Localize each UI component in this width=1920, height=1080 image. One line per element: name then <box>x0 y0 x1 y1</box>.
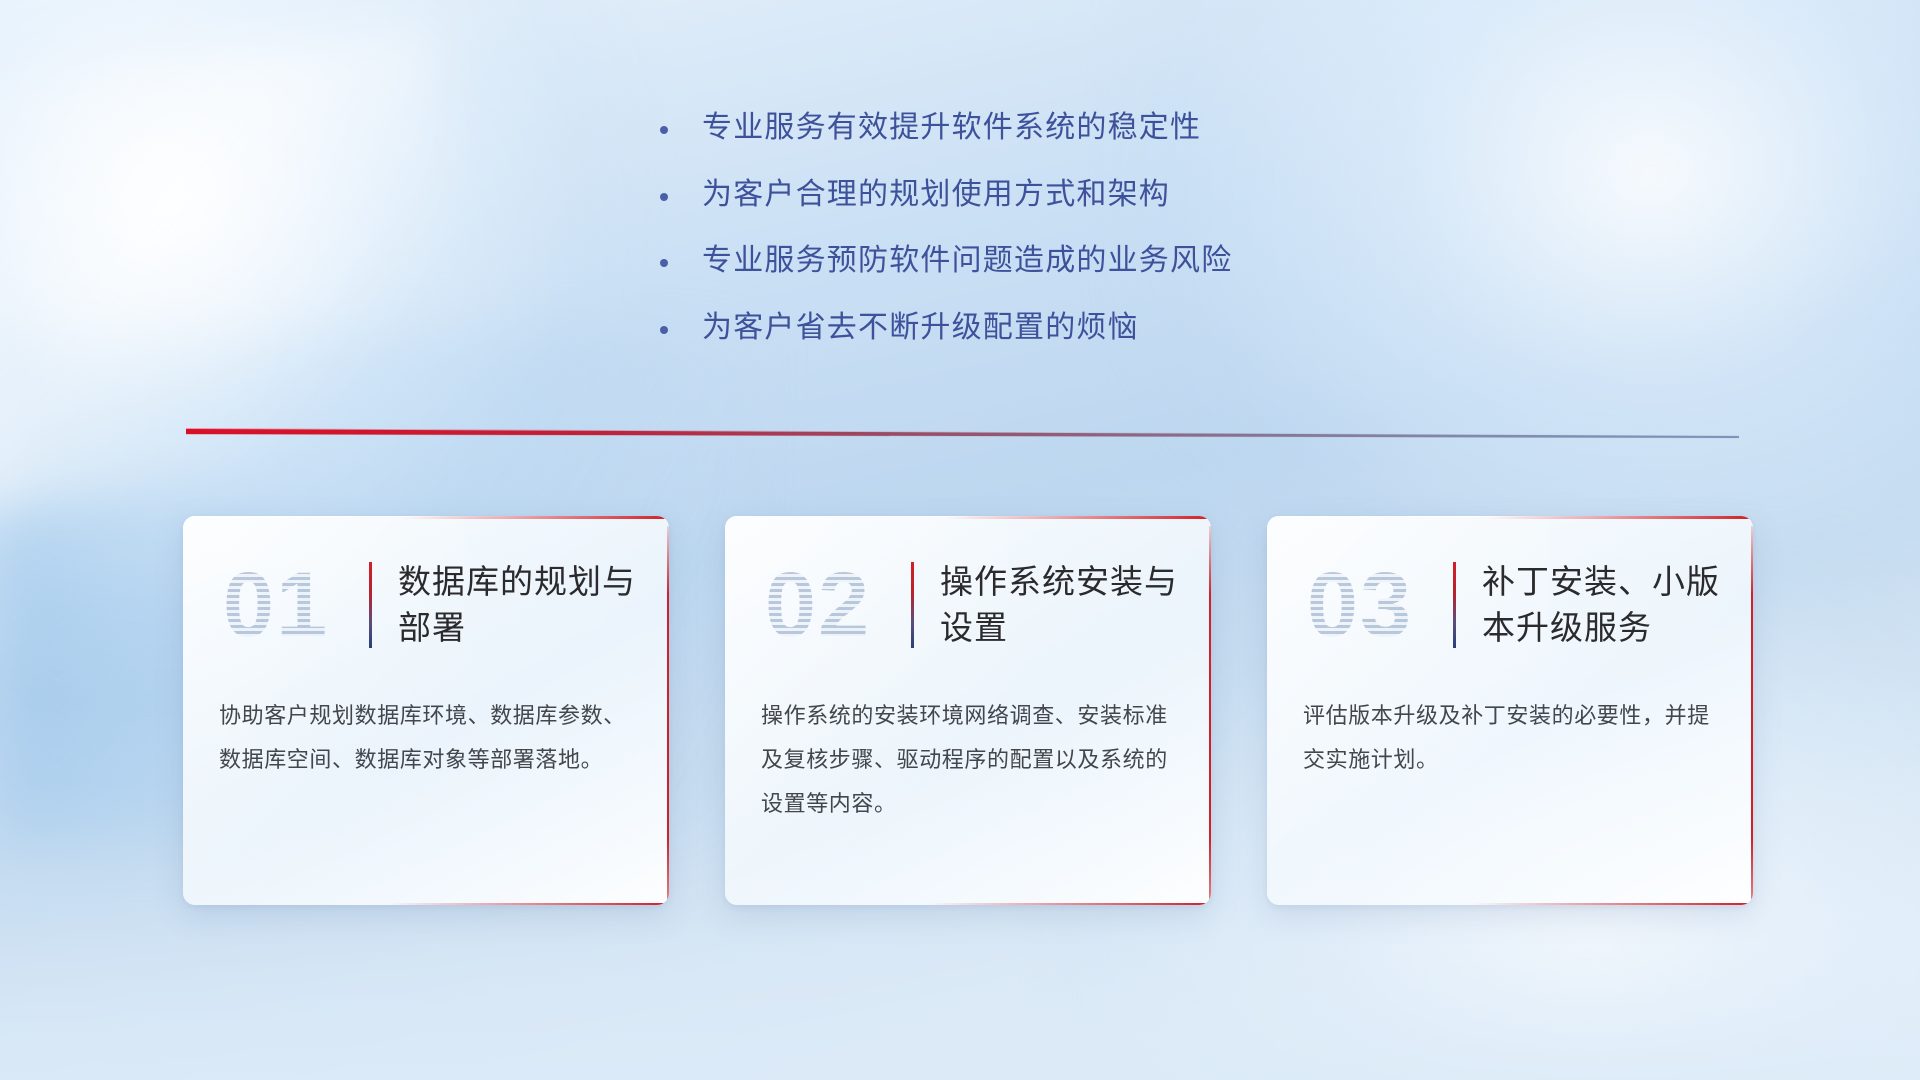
card-number: 01 <box>201 559 351 651</box>
bullet-label: 专业服务有效提升软件系统的稳定性 <box>702 108 1201 149</box>
card-header: 01 数据库的规划与部署 <box>183 540 669 670</box>
card-header: 03 补丁安装、小版本升级服务 <box>1267 540 1753 670</box>
card-title: 操作系统安装与设置 <box>940 559 1211 650</box>
bullet-label: 为客户省去不断升级配置的烦恼 <box>702 308 1139 349</box>
bullet-dot-icon <box>660 259 668 267</box>
card-accent-top <box>944 516 1211 519</box>
service-card-03[interactable]: 03 补丁安装、小版本升级服务 评估版本升级及补丁安装的必要性，并提交实施计划。 <box>1267 516 1753 905</box>
card-divider-rule <box>911 562 914 648</box>
card-number: 03 <box>1285 559 1435 651</box>
service-card-list: 01 数据库的规划与部署 协助客户规划数据库环境、数据库参数、数据库空间、数据库… <box>183 516 1753 905</box>
card-header: 02 操作系统安装与设置 <box>725 540 1211 670</box>
divider-shape-icon <box>186 425 1739 447</box>
card-description: 操作系统的安装环境网络调查、安装标准及复核步骤、驱动程序的配置以及系统的设置等内… <box>761 694 1177 826</box>
card-accent-bottom <box>387 903 669 906</box>
card-divider-rule <box>1453 562 1456 648</box>
bullet-dot-icon <box>660 126 668 134</box>
slide-canvas: 专业服务有效提升软件系统的稳定性 为客户合理的规划使用方式和架构 专业服务预防软… <box>0 0 1920 1080</box>
card-accent-bottom <box>929 903 1211 906</box>
card-title: 数据库的规划与部署 <box>398 559 669 650</box>
section-divider <box>186 425 1739 447</box>
service-card-01[interactable]: 01 数据库的规划与部署 协助客户规划数据库环境、数据库参数、数据库空间、数据库… <box>183 516 669 905</box>
card-title: 补丁安装、小版本升级服务 <box>1482 559 1753 650</box>
list-item: 为客户省去不断升级配置的烦恼 <box>660 308 1480 349</box>
bullet-dot-icon <box>660 326 668 334</box>
list-item: 专业服务预防软件问题造成的业务风险 <box>660 241 1480 282</box>
list-item: 为客户合理的规划使用方式和架构 <box>660 175 1480 216</box>
list-item: 专业服务有效提升软件系统的稳定性 <box>660 108 1480 149</box>
bullet-label: 为客户合理的规划使用方式和架构 <box>702 175 1170 216</box>
card-accent-top <box>1486 516 1753 519</box>
card-description: 协助客户规划数据库环境、数据库参数、数据库空间、数据库对象等部署落地。 <box>219 694 635 782</box>
bullet-label: 专业服务预防软件问题造成的业务风险 <box>702 241 1232 282</box>
card-number: 02 <box>743 559 893 651</box>
card-accent-bottom <box>1471 903 1753 906</box>
service-card-02[interactable]: 02 操作系统安装与设置 操作系统的安装环境网络调查、安装标准及复核步骤、驱动程… <box>725 516 1211 905</box>
card-description: 评估版本升级及补丁安装的必要性，并提交实施计划。 <box>1303 694 1719 782</box>
benefits-bullet-list: 专业服务有效提升软件系统的稳定性 为客户合理的规划使用方式和架构 专业服务预防软… <box>660 108 1480 374</box>
card-accent-top <box>402 516 669 519</box>
card-divider-rule <box>369 562 372 648</box>
bullet-dot-icon <box>660 193 668 201</box>
